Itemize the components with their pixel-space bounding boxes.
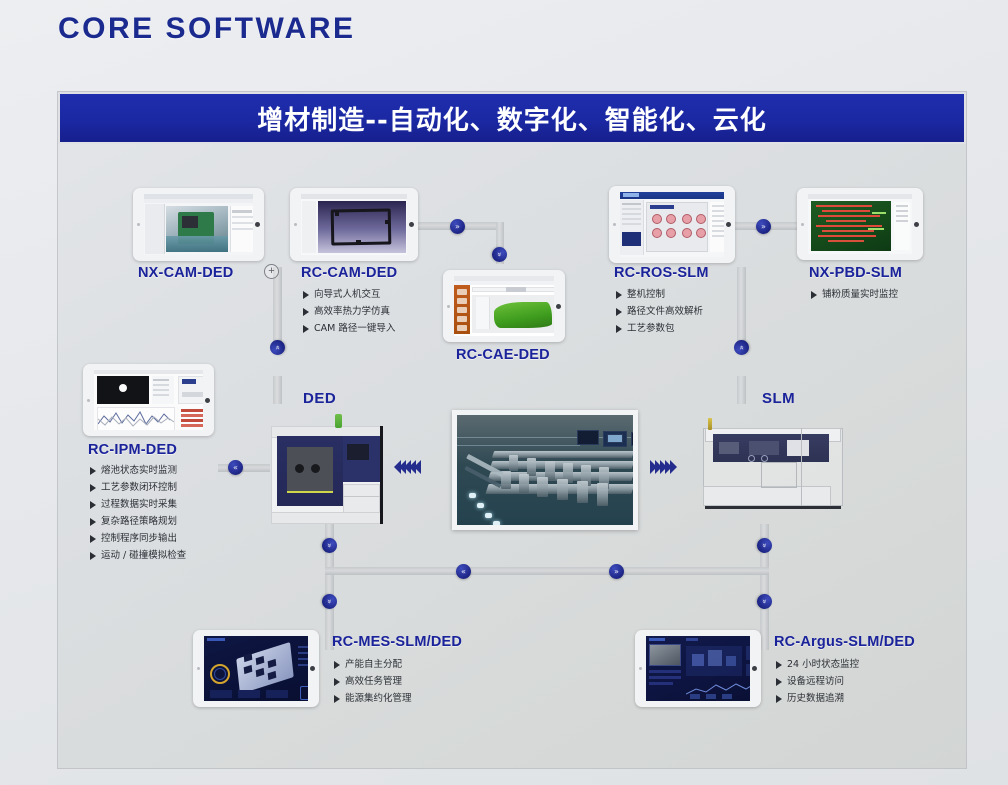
home-button-icon [914,222,919,227]
connector-h-ipm-ded [218,464,270,472]
bullet-item: 设备远程访问 [776,675,859,689]
home-button-icon [310,666,315,671]
tablet-rc-ipm-ded[interactable] [83,364,214,436]
bullet-text: 向导式人机交互 [314,288,381,302]
screen-rc-ipm-ded [94,370,203,430]
home-button-icon [205,398,210,403]
label-rc-ipm-ded: RC-IPM-DED [88,442,177,458]
connector-h-bottom-bus [325,567,769,575]
camera-icon [639,667,642,670]
bullet-text: 运动 / 碰撞模拟检查 [101,549,186,563]
tablet-rc-ros-slm[interactable] [609,186,735,263]
node-label-slm: SLM [762,390,795,407]
camera-icon [137,223,140,226]
chevron-right-icon [670,460,677,474]
screen-rc-argus-slm-ded [646,636,750,701]
bullet-text: CAM 路径一键导入 [314,322,395,336]
plus-icon: + [264,264,279,279]
connector-v-ded-top [273,376,282,404]
bullet-text: 高效率热力学仿真 [314,305,390,319]
bullet-text: 能源集约化管理 [345,692,412,706]
badge-down-camcae[interactable]: » [492,247,507,262]
badge-down-slm2[interactable]: » [757,594,772,609]
led-light-icon [477,503,484,508]
triangle-bullet-icon [303,325,309,333]
page-title: CORE SOFTWARE [58,12,356,46]
bullet-item: 高效任务管理 [334,675,412,689]
triangle-bullet-icon [334,695,340,703]
triangle-bullet-icon [616,308,622,316]
home-button-icon [409,222,414,227]
triangle-bullet-icon [616,291,622,299]
label-rc-argus-slm-ded: RC-Argus-SLM/DED [774,634,915,650]
triangle-bullet-icon [90,467,96,475]
bullets-rc-mes-slm-ded: 产能自主分配 高效任务管理 能源集约化管理 [334,658,412,709]
badge-left-ipmded[interactable]: « [228,460,243,475]
factory-photo [452,410,638,530]
triangle-bullet-icon [334,661,340,669]
tablet-nx-cam-ded[interactable] [133,188,264,261]
screen-rc-mes-slm-ded [204,636,308,701]
tablet-nx-pbd-slm[interactable] [797,188,923,260]
bullet-text: 高效任务管理 [345,675,402,689]
bullet-text: 路径文件高效解析 [627,305,703,319]
badge-right-rosnx[interactable]: » [756,219,771,234]
screen-rc-cam-ded [301,194,407,255]
slm-machine-illustration [703,412,845,512]
monitor-icon [607,434,623,443]
camera-icon [447,305,450,308]
bullet-text: 铺粉质量实时监控 [822,288,898,302]
connector-v-slm-top [737,376,746,404]
camera-icon [87,399,90,402]
triangle-bullet-icon [776,678,782,686]
badge-up-rosslm[interactable]: » [734,340,749,355]
label-rc-cam-ded: RC-CAM-DED [301,265,397,281]
home-button-icon [752,666,757,671]
bullet-item: 控制程序同步输出 [90,532,186,546]
bullet-item: 过程数据实时采集 [90,498,186,512]
bullet-item: 向导式人机交互 [303,288,395,302]
monitor-icon [577,430,599,445]
triangle-bullet-icon [90,484,96,492]
bullets-nx-pbd-slm: 铺粉质量实时监控 [811,288,898,305]
bullet-item: 工艺参数包 [616,322,703,336]
bullet-item: 历史数据追溯 [776,692,859,706]
bullet-text: 工艺参数包 [627,322,675,336]
bullet-item: 复杂路径策略规划 [90,515,186,529]
tablet-rc-mes-slm-ded[interactable] [193,630,319,707]
screen-rc-ros-slm [620,192,724,257]
bullet-text: 过程数据实时采集 [101,498,177,512]
bullet-item: CAM 路径一键导入 [303,322,395,336]
camera-icon [294,223,297,226]
bullet-item: 高效率热力学仿真 [303,305,395,319]
monitor-icon [631,432,633,446]
bullet-text: 设备远程访问 [787,675,844,689]
bullet-item: 铺粉质量实时监控 [811,288,898,302]
home-button-icon [255,222,260,227]
bullet-item: 24 小时状态监控 [776,658,859,672]
led-light-icon [493,521,500,525]
label-nx-cam-ded: NX-CAM-DED [138,265,233,281]
bullet-text: 工艺参数闭环控制 [101,481,177,495]
label-rc-mes-slm-ded: RC-MES-SLM/DED [332,634,462,650]
chevron-left-icon [414,460,421,474]
triangle-bullet-icon [776,661,782,669]
badge-down-ded2[interactable]: » [322,594,337,609]
badge-up-camded[interactable]: » [270,340,285,355]
triangle-bullet-icon [303,308,309,316]
bullet-text: 熔池状态实时监测 [101,464,177,478]
camera-icon [613,223,616,226]
node-label-ded: DED [303,390,336,407]
triangle-bullet-icon [90,518,96,526]
bullet-text: 历史数据追溯 [787,692,844,706]
tablet-rc-cam-ded[interactable] [290,188,418,261]
poster-panel: 增材制造--自动化、数字化、智能化、云化 » » » » » » » » » «… [58,92,966,768]
led-light-icon [485,513,492,518]
badge-down-ded[interactable]: » [322,538,337,553]
label-rc-cae-ded: RC-CAE-DED [456,347,550,363]
screen-rc-cae-ded [454,276,554,336]
bullet-item: 产能自主分配 [334,658,412,672]
bullet-text: 24 小时状态监控 [787,658,859,672]
status-light-icon [708,418,712,430]
bullets-rc-cam-ded: 向导式人机交互 高效率热力学仿真 CAM 路径一键导入 [303,288,395,339]
bullets-rc-ipm-ded: 熔池状态实时监测 工艺参数闭环控制 过程数据实时采集 复杂路径策略规划 控制程序… [90,464,186,566]
factory-photo-image [457,415,633,525]
screen-nx-cam-ded [144,194,253,255]
arrows-ded-to-photo [394,460,419,474]
triangle-bullet-icon [616,325,622,333]
badge-right-bus[interactable]: » [609,564,624,579]
screen-nx-pbd-slm [808,194,912,254]
bullet-item: 熔池状态实时监测 [90,464,186,478]
triangle-bullet-icon [303,291,309,299]
ded-machine-illustration [271,414,386,529]
bullet-text: 整机控制 [627,288,665,302]
bullet-item: 能源集约化管理 [334,692,412,706]
bullet-item: 整机控制 [616,288,703,302]
banner-title: 增材制造--自动化、数字化、智能化、云化 [257,100,767,137]
connector-v-rosslm [737,267,746,345]
bullet-text: 控制程序同步输出 [101,532,177,546]
connector-v-camded [273,267,282,345]
label-rc-ros-slm: RC-ROS-SLM [614,265,709,281]
badge-left-bus[interactable]: « [456,564,471,579]
banner: 增材制造--自动化、数字化、智能化、云化 [58,92,966,144]
triangle-bullet-icon [334,678,340,686]
status-light-icon [335,414,342,428]
triangle-bullet-icon [776,695,782,703]
camera-icon [197,667,200,670]
bullet-item: 运动 / 碰撞模拟检查 [90,549,186,563]
badge-down-slm[interactable]: » [757,538,772,553]
home-button-icon [556,304,561,309]
triangle-bullet-icon [90,535,96,543]
bullet-text: 复杂路径策略规划 [101,515,177,529]
tablet-rc-cae-ded[interactable] [443,270,565,342]
tablet-rc-argus-slm-ded[interactable] [635,630,761,707]
bullet-text: 产能自主分配 [345,658,402,672]
label-nx-pbd-slm: NX-PBD-SLM [809,265,902,281]
triangle-bullet-icon [811,291,817,299]
bullets-rc-ros-slm: 整机控制 路径文件高效解析 工艺参数包 [616,288,703,339]
badge-right-camcae[interactable]: » [450,219,465,234]
camera-icon [801,223,804,226]
bullets-rc-argus-slm-ded: 24 小时状态监控 设备远程访问 历史数据追溯 [776,658,859,709]
led-light-icon [469,493,476,498]
arrows-photo-to-slm [650,460,675,474]
bullet-item: 工艺参数闭环控制 [90,481,186,495]
triangle-bullet-icon [90,501,96,509]
home-button-icon [726,222,731,227]
bullet-item: 路径文件高效解析 [616,305,703,319]
triangle-bullet-icon [90,552,96,560]
